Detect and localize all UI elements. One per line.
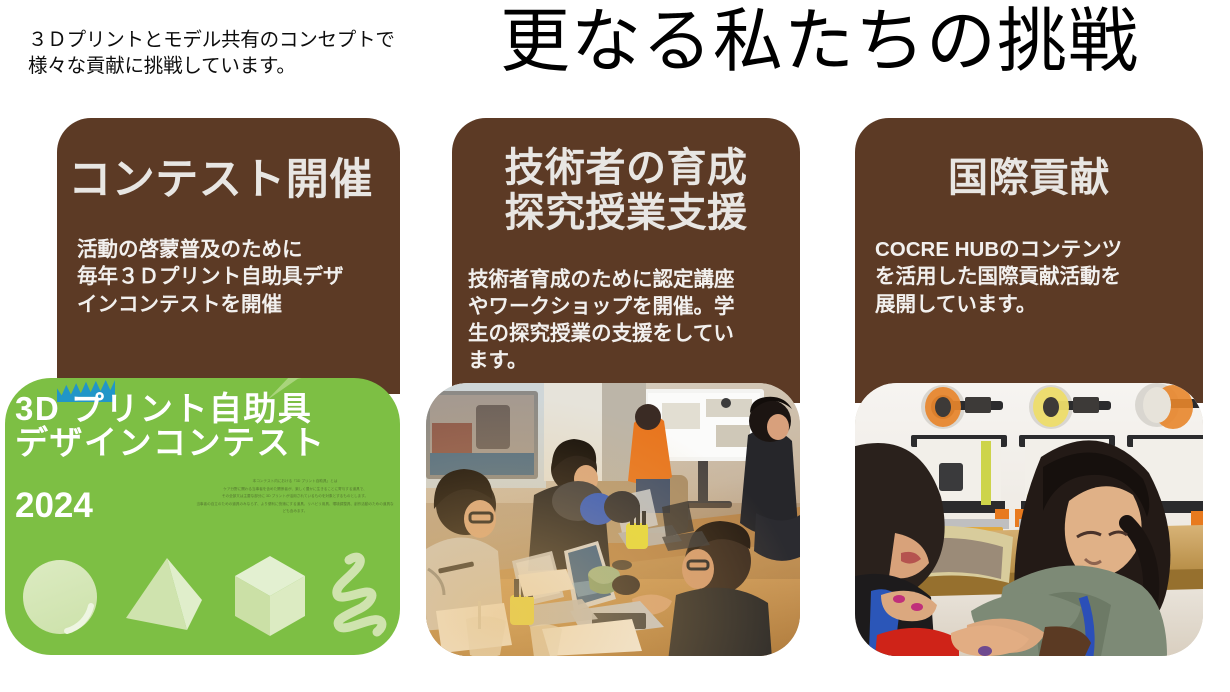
international-photo[interactable] <box>855 383 1203 656</box>
poster-year: 2024 <box>15 486 93 526</box>
card-international-body: COCRE HUBのコンテンツ を活用した国際貢献活動を 展開しています。 <box>875 236 1195 318</box>
pyramid-icon <box>126 558 202 630</box>
page-title: 更なる私たちの挑戦 <box>500 4 1180 80</box>
card-contest-title: コンテスト開催 <box>49 156 392 204</box>
card-training-title: 技術者の育成 探究授業支援 <box>452 146 800 236</box>
card-contest[interactable]: コンテスト開催 活動の啓蒙普及のために 毎年３Ｄプリント自助具デザ インコンテス… <box>57 118 400 394</box>
card-international-title: 国際貢献 <box>855 156 1203 201</box>
card-international[interactable]: 国際貢献 COCRE HUBのコンテンツ を活用した国際貢献活動を 展開していま… <box>855 118 1203 403</box>
international-photo-image <box>855 383 1203 656</box>
cube-icon <box>235 556 305 636</box>
workshop-photo-image <box>426 383 800 656</box>
intro-text: ３Ｄプリントとモデル共有のコンセプトで 様々な貢献に挑戦しています。 <box>28 28 498 79</box>
workshop-photo[interactable] <box>426 383 800 656</box>
poster-title: 3D プリント自助具 デザインコンテスト <box>15 392 395 459</box>
sphere-icon <box>23 560 97 634</box>
card-training-body: 技術者育成のために認定講座 やワークショップを開催。学 生の探究授業の支援をして… <box>468 266 793 374</box>
scribble-icon <box>337 557 382 632</box>
slide-canvas: ３Ｄプリントとモデル共有のコンセプトで 様々な貢献に挑戦しています。 更なる私た… <box>0 0 1230 692</box>
card-training[interactable]: 技術者の育成 探究授業支援 技術者育成のために認定講座 やワークショップを開催。… <box>452 118 800 403</box>
contest-poster[interactable]: 3D プリント自助具 デザインコンテスト 2024 本コンテスト内における「3D… <box>5 378 400 655</box>
card-contest-body: 活動の啓蒙普及のために 毎年３Ｄプリント自助具デザ インコンテストを開催 <box>77 236 387 318</box>
poster-fine-print: 本コンテスト内における「3D プリント自助具」とは ケア分野に関わる当事者を含め… <box>195 478 395 516</box>
poster-shapes <box>5 548 400 648</box>
